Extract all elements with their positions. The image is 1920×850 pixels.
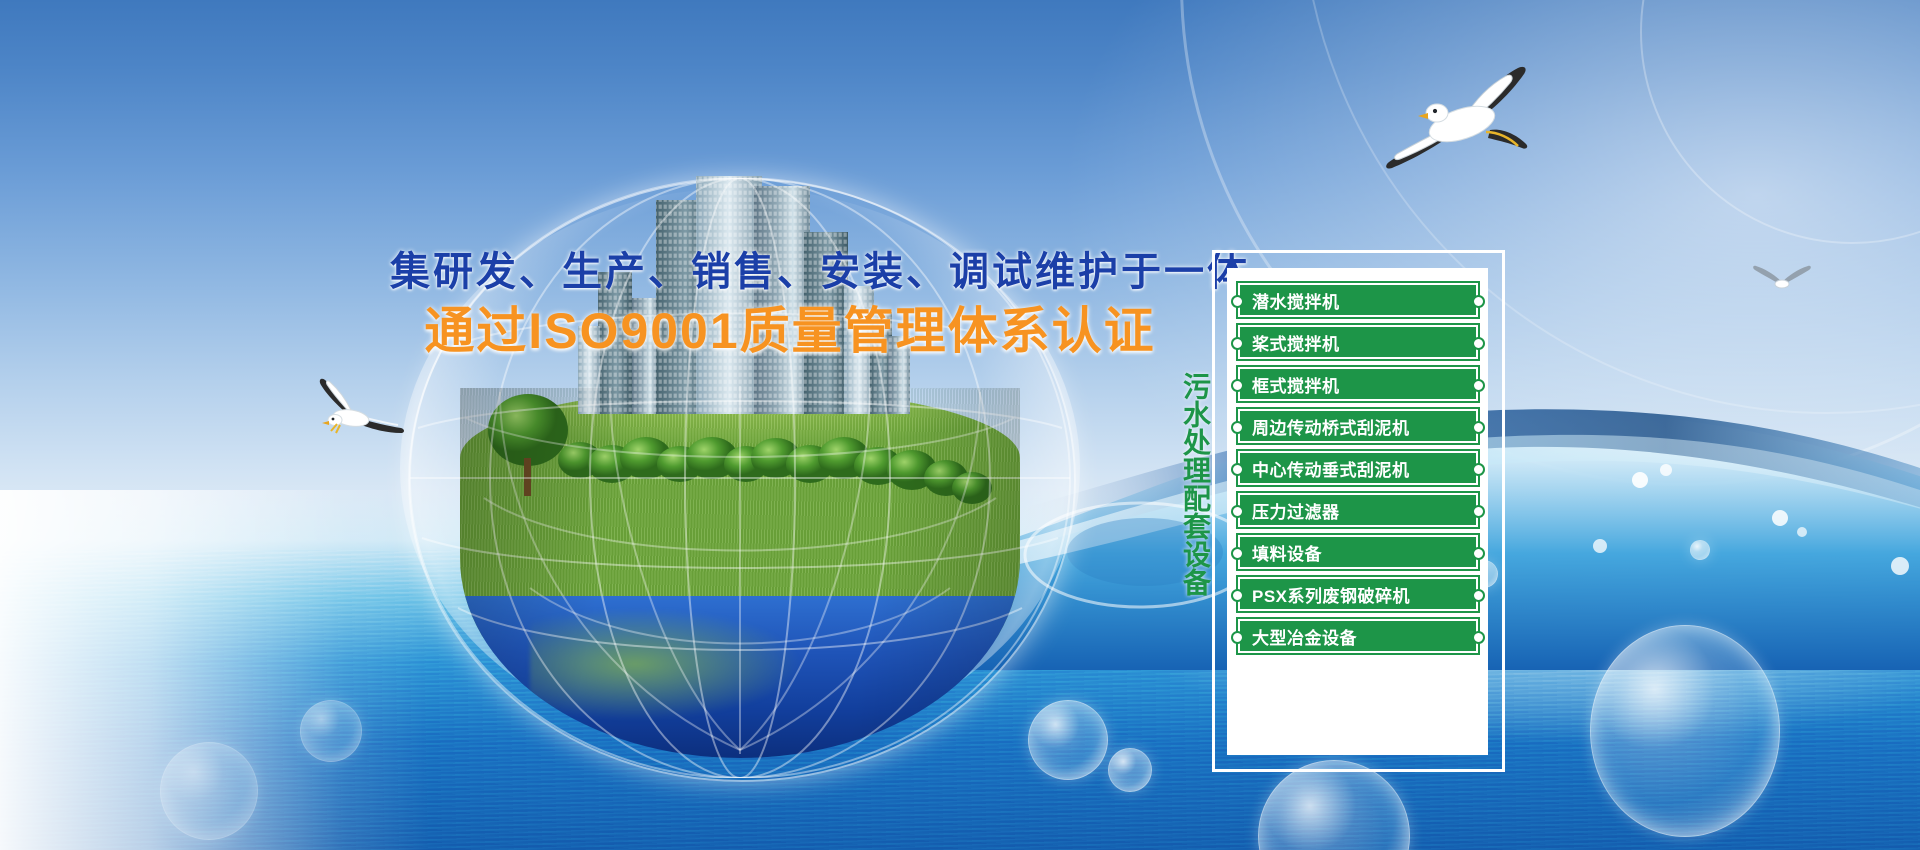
equipment-item[interactable]: 填料设备 — [1238, 535, 1478, 569]
equipment-item[interactable]: 中心传动垂式刮泥机 — [1238, 451, 1478, 485]
globe-ocean — [460, 596, 1020, 758]
equipment-item-label: 框式搅拌机 — [1252, 372, 1340, 397]
equipment-item-label: PSX系列废钢破碎机 — [1252, 582, 1410, 607]
equipment-item-label: 周边传动桥式刮泥机 — [1252, 414, 1410, 439]
equipment-item[interactable]: 大型冶金设备 — [1238, 619, 1478, 653]
equipment-item[interactable]: 压力过滤器 — [1238, 493, 1478, 527]
bubble-icon — [1590, 625, 1780, 837]
equipment-item[interactable]: 桨式搅拌机 — [1238, 325, 1478, 359]
bubble-icon — [1108, 748, 1152, 792]
equipment-item-label: 中心传动垂式刮泥机 — [1252, 456, 1410, 481]
headline-block: 集研发、生产、销售、安装、调试维护于一体 通过ISO9001质量管理体系认证 — [390, 252, 1190, 356]
headline-line-1: 集研发、生产、销售、安装、调试维护于一体 — [390, 252, 1190, 292]
equipment-item-label: 压力过滤器 — [1252, 498, 1340, 523]
headline-line-2: 通过ISO9001质量管理体系认证 — [390, 306, 1190, 356]
equipment-item[interactable]: 周边传动桥式刮泥机 — [1238, 409, 1478, 443]
panel-vertical-title: 污水处理配套设备 — [1176, 372, 1210, 596]
equipment-list: 潜水搅拌机 桨式搅拌机 框式搅拌机 周边传动桥式刮泥机 中心传动垂式刮泥机 压力… — [1238, 283, 1478, 653]
equipment-item[interactable]: 框式搅拌机 — [1238, 367, 1478, 401]
equipment-item-label: 潜水搅拌机 — [1252, 288, 1340, 313]
water-left-fade — [0, 490, 430, 850]
bubble-icon — [1690, 540, 1710, 560]
globe-landmass — [530, 610, 830, 730]
equipment-item[interactable]: 潜水搅拌机 — [1238, 283, 1478, 317]
equipment-item-label: 填料设备 — [1252, 540, 1322, 565]
globe-body — [460, 388, 1020, 758]
equipment-item[interactable]: PSX系列废钢破碎机 — [1238, 577, 1478, 611]
equipment-item-label: 桨式搅拌机 — [1252, 330, 1340, 355]
equipment-item-label: 大型冶金设备 — [1252, 624, 1357, 649]
banner-canvas: 集研发、生产、销售、安装、调试维护于一体 通过ISO9001质量管理体系认证 — [0, 0, 1920, 850]
